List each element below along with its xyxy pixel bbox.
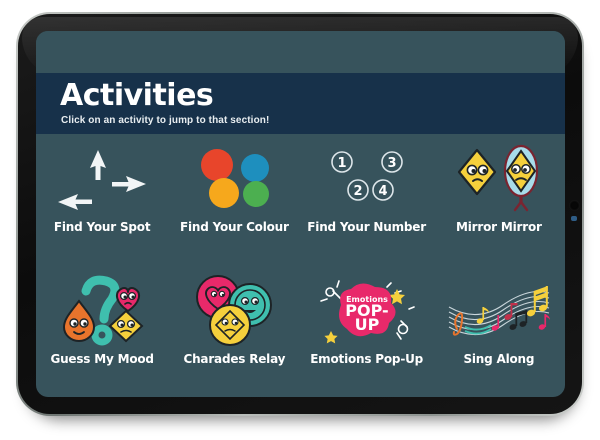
logo-line-3: UP <box>354 315 379 334</box>
activity-grid: Find Your Spot Find Your Colour <box>36 134 565 397</box>
activity-find-your-number[interactable]: 1 3 2 4 Find Your Number <box>301 142 433 234</box>
page-subtitle: Click on an activity to jump to that sec… <box>61 115 269 126</box>
activity-emotions-pop-up[interactable]: Emotions POP- UP Emotions Pop-Up <box>301 274 433 366</box>
sensor-dot-icon <box>571 216 577 221</box>
three-emotion-coins-icon <box>179 274 289 346</box>
number-4: 4 <box>378 184 387 199</box>
activity-label: Find Your Number <box>307 220 426 234</box>
question-mark-characters-icon <box>47 274 157 346</box>
activity-row: Guess My Mood <box>36 266 565 398</box>
numbered-circles-icon: 1 3 2 4 <box>312 142 422 214</box>
activity-row: Find Your Spot Find Your Colour <box>36 134 565 266</box>
number-2: 2 <box>353 184 362 199</box>
activity-label: Emotions Pop-Up <box>310 352 423 366</box>
activity-label: Sing Along <box>463 352 534 366</box>
activity-mirror-mirror[interactable]: Mirror Mirror <box>433 142 565 234</box>
camera-lens-icon <box>569 200 580 211</box>
three-arrows-icon <box>47 142 157 214</box>
page-title: Activities <box>60 78 213 113</box>
tablet-screen: Activities Click on an activity to jump … <box>36 31 565 397</box>
emotions-popup-logo-icon: Emotions POP- UP <box>312 274 422 346</box>
four-colour-circles-icon <box>179 142 289 214</box>
screen-top-strip <box>36 31 565 73</box>
screenshot-stage: Activities Click on an activity to jump … <box>0 0 600 440</box>
activity-charades-relay[interactable]: Charades Relay <box>168 274 300 366</box>
activity-label: Find Your Colour <box>180 220 289 234</box>
activity-find-your-spot[interactable]: Find Your Spot <box>36 142 168 234</box>
activity-label: Find Your Spot <box>54 220 151 234</box>
activity-label: Charades Relay <box>183 352 285 366</box>
activity-find-your-colour[interactable]: Find Your Colour <box>168 142 300 234</box>
number-1: 1 <box>337 156 346 171</box>
activity-label: Mirror Mirror <box>456 220 542 234</box>
activity-guess-my-mood[interactable]: Guess My Mood <box>36 274 168 366</box>
diamond-character-mirror-icon <box>444 142 554 214</box>
activity-label: Guess My Mood <box>50 352 153 366</box>
music-staff-notes-icon <box>444 274 554 346</box>
activity-sing-along[interactable]: Sing Along <box>433 274 565 366</box>
number-3: 3 <box>387 156 396 171</box>
